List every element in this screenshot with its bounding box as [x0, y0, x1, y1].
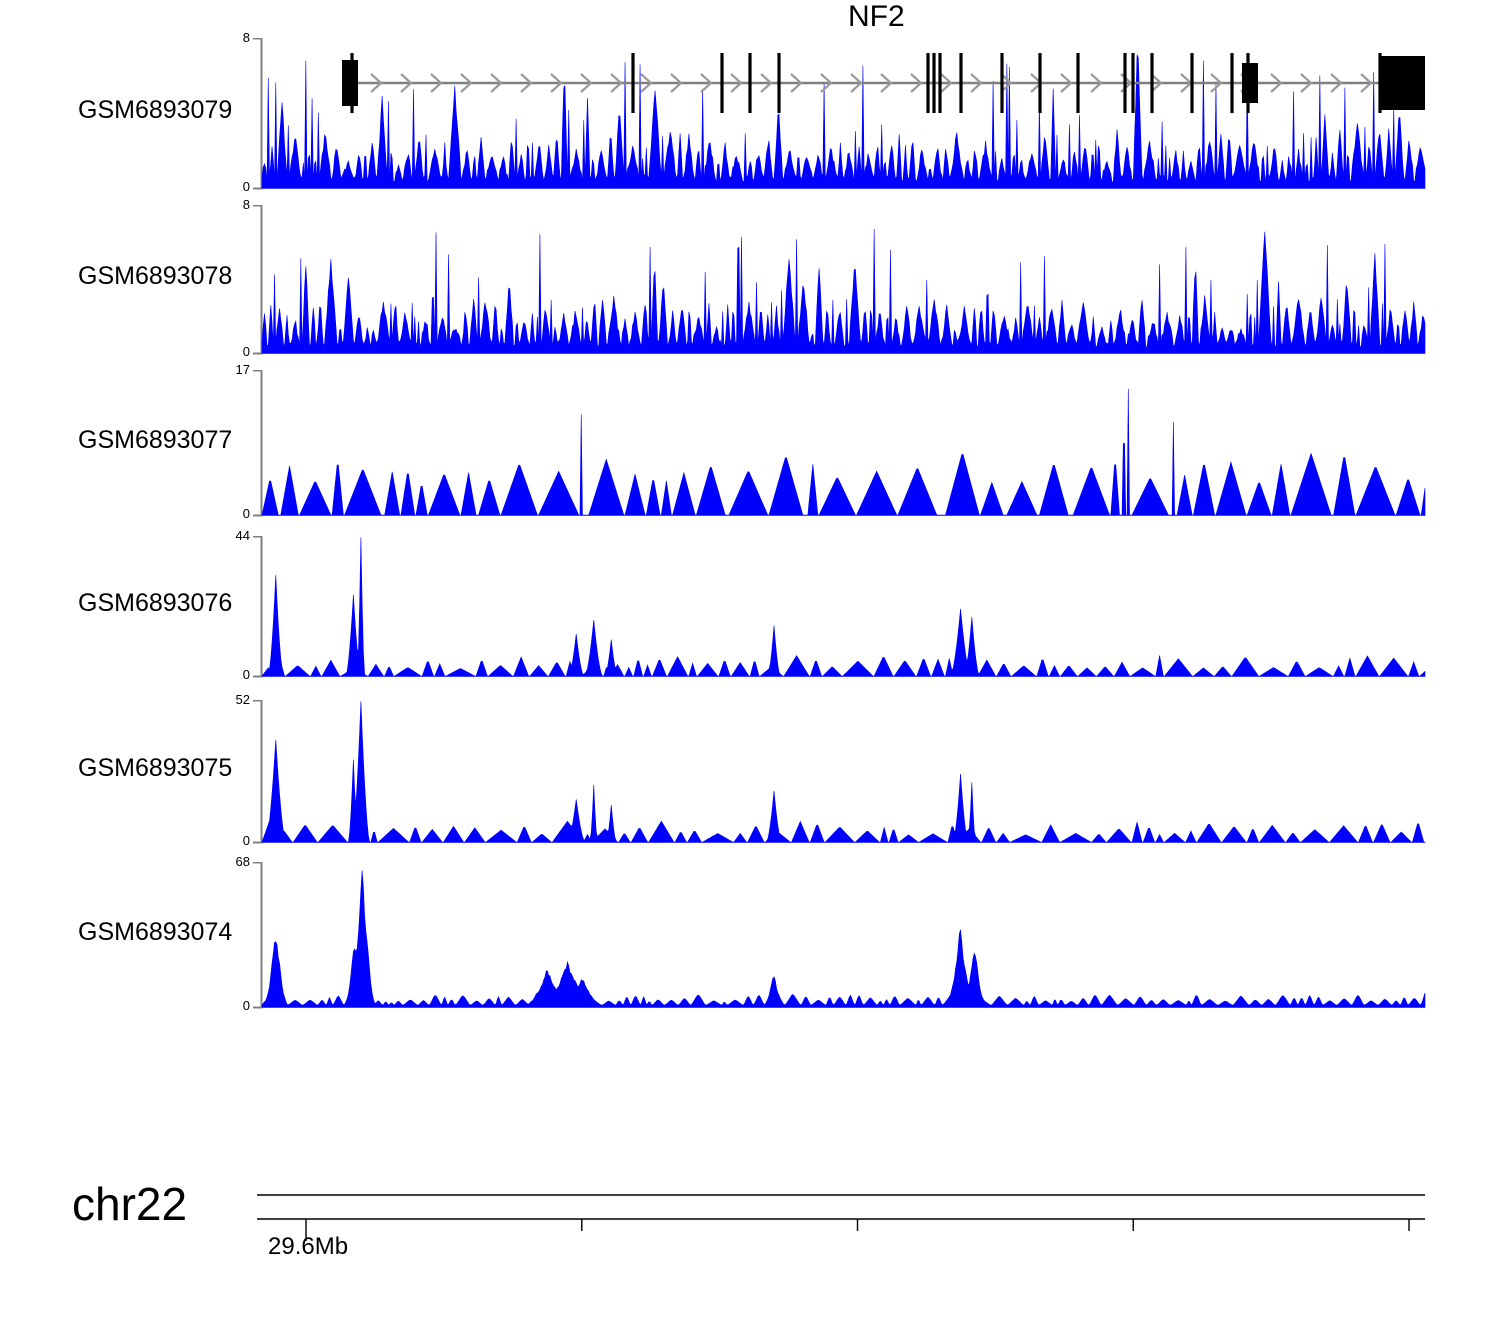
exon-block	[1381, 56, 1425, 110]
exon-bar	[1123, 53, 1126, 113]
exon-bar	[932, 53, 935, 113]
exon-bar	[926, 53, 929, 113]
exon-bar	[1150, 53, 1153, 113]
coverage-area	[262, 229, 1425, 353]
axis-tick-label-start: 29.6Mb	[268, 1233, 348, 1261]
exon-block	[342, 60, 358, 106]
coverage-area	[262, 870, 1425, 1007]
exon-bar	[959, 53, 962, 113]
exon-bar	[1038, 53, 1041, 113]
exon-bar	[720, 53, 723, 113]
gene-name-label: NF2	[848, 0, 905, 34]
exon-block	[1242, 63, 1258, 103]
coverage-track-gsm6893077[interactable]	[0, 370, 1500, 519]
axis-ruler-svg	[0, 1185, 1500, 1255]
coverage-track-gsm6893076[interactable]	[0, 536, 1500, 680]
exon-bar	[1131, 53, 1134, 113]
exon-bar	[631, 53, 634, 113]
exon-bar	[1230, 53, 1233, 113]
coverage-area	[262, 389, 1425, 516]
genome-browser-view: GSM689307980GSM689307880GSM6893077170GSM…	[0, 0, 1500, 1320]
coverage-track-gsm6893074[interactable]	[0, 862, 1500, 1011]
coverage-track-gsm6893078[interactable]	[0, 205, 1500, 357]
exon-bar	[1000, 53, 1003, 113]
exon-bar	[748, 53, 751, 113]
exon-bar	[777, 53, 780, 113]
coverage-track-gsm6893075[interactable]	[0, 700, 1500, 846]
exon-bar	[1190, 53, 1193, 113]
coverage-area	[262, 701, 1425, 842]
genome-axis: chr22 29.6Mb	[0, 1185, 1500, 1275]
exon-bar	[1076, 53, 1079, 113]
gene-model-svg[interactable]	[0, 35, 1500, 130]
exon-bar	[938, 53, 941, 113]
coverage-area	[262, 537, 1425, 676]
gene-annotation-track[interactable]: NF2	[0, 0, 1500, 130]
